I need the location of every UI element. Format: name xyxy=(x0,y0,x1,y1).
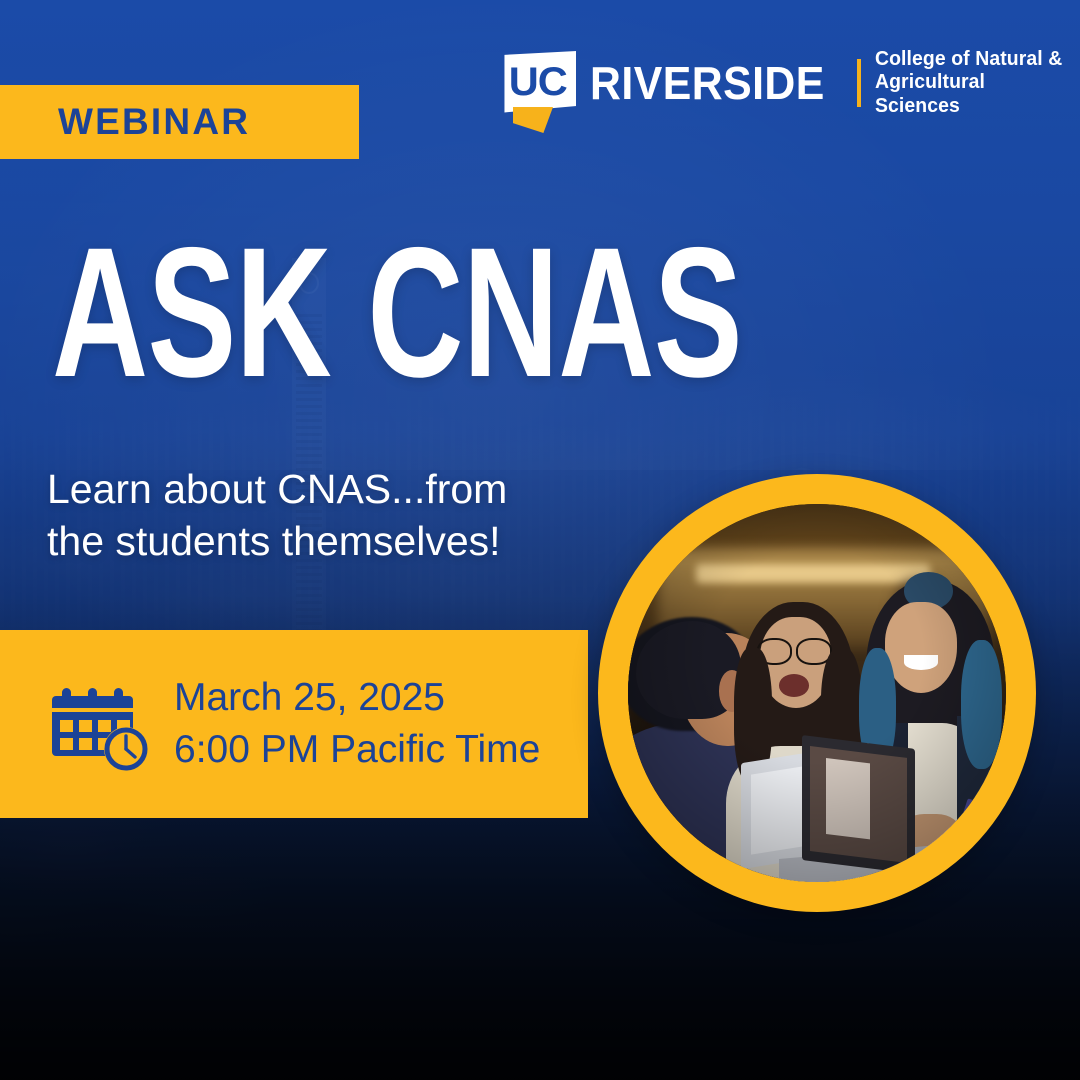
ucr-cnas-logo: UC RIVERSIDE College of Natural & Agricu… xyxy=(503,48,1080,118)
webinar-promo-graphic: UC RIVERSIDE College of Natural & Agricu… xyxy=(0,0,1080,1080)
page-subtitle: Learn about CNAS...from the students the… xyxy=(47,463,507,568)
event-date-time: March 25, 2025 6:00 PM Pacific Time xyxy=(174,672,540,777)
college-name-line1: College of Natural & xyxy=(875,48,1074,71)
logo-divider-bar xyxy=(857,59,861,107)
webinar-badge: WEBINAR xyxy=(0,85,359,159)
page-title: ASK CNAS xyxy=(52,228,742,398)
calendar-clock-icon xyxy=(52,674,152,774)
photo-vignette xyxy=(628,504,1006,882)
riverside-wordmark: RIVERSIDE xyxy=(590,60,825,106)
uc-badge-icon: UC xyxy=(503,51,576,115)
webinar-badge-label: WEBINAR xyxy=(58,101,250,143)
event-details-banner: March 25, 2025 6:00 PM Pacific Time xyxy=(0,630,588,818)
student-photo xyxy=(628,504,1006,882)
uc-monogram: UC xyxy=(502,58,574,107)
college-name: College of Natural & Agricultural Scienc… xyxy=(875,48,1074,118)
college-name-line2: Agricultural Sciences xyxy=(875,71,1074,117)
student-photo-ring xyxy=(598,474,1036,912)
